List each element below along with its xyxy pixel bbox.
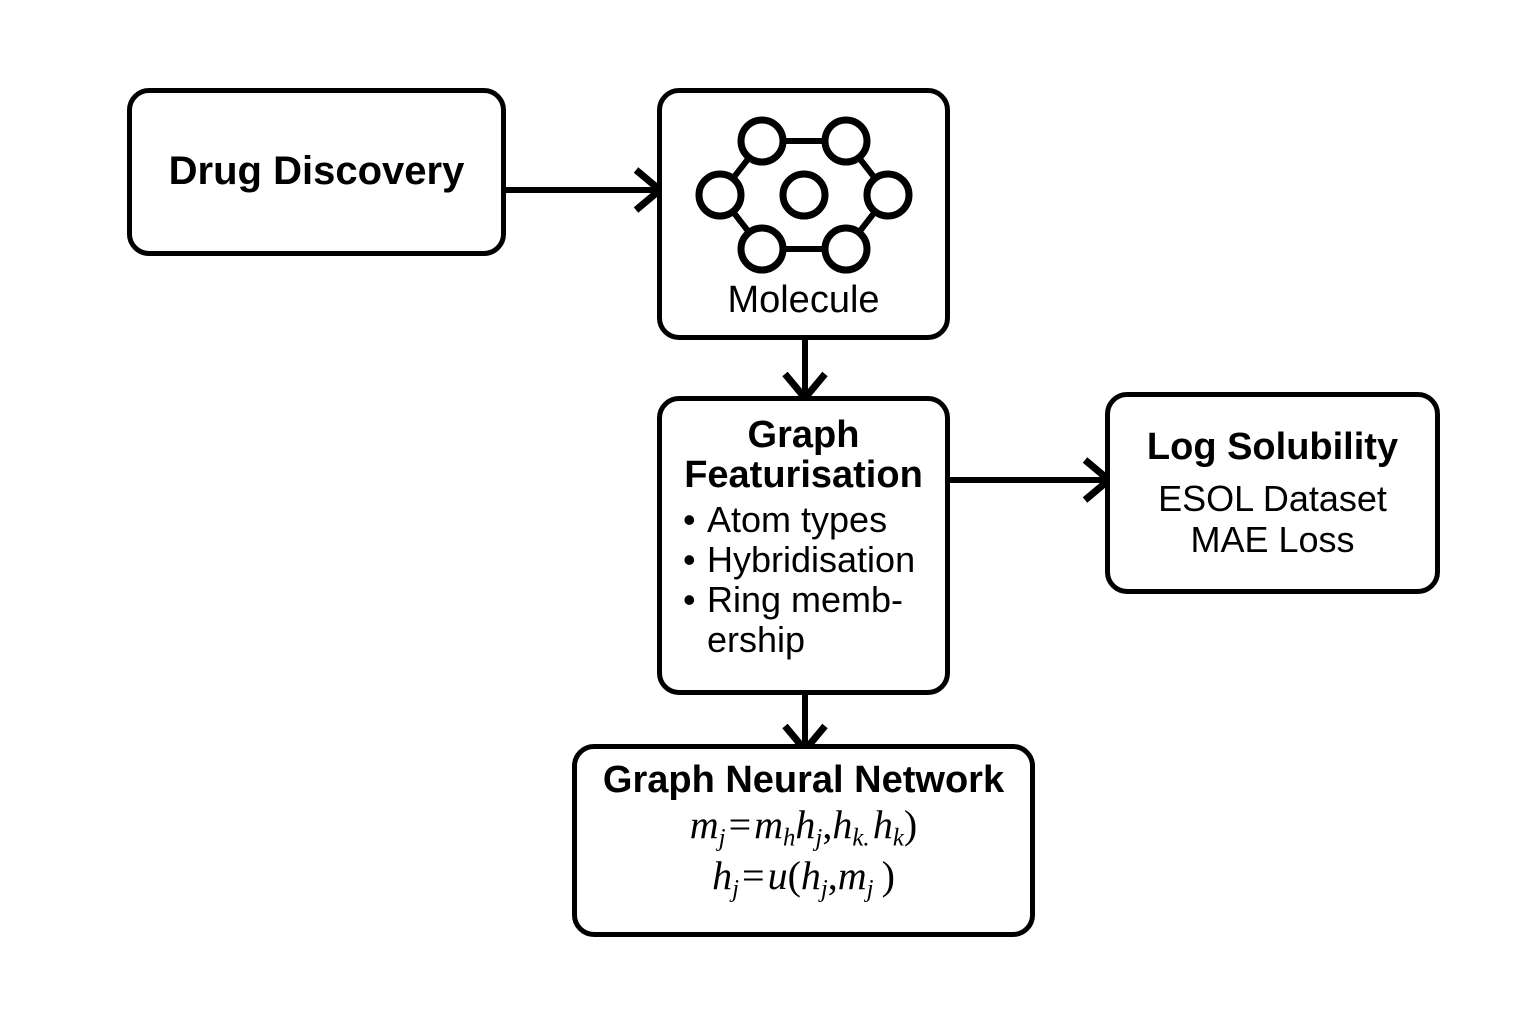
node-drug-discovery[interactable]: Drug Discovery [127,88,506,256]
graph-featurisation-title-line1: Graph [748,415,860,455]
edge-featurisation-to-solubility [944,440,1119,520]
list-item: • Atom types [673,500,940,540]
node-molecule[interactable]: Molecule [657,88,950,340]
node-graph-neural-network[interactable]: Graph Neural Network mj=mhhj,hk. hk) hj=… [572,744,1035,937]
log-solubility-title: Log Solubility [1147,426,1398,469]
list-item-label: Ring memb- [707,579,903,620]
list-item-label: Hybridisation [707,539,915,580]
log-solubility-loss: MAE Loss [1190,520,1354,560]
diagram-canvas: Drug Discovery Molecule Graph Featurisat… [0,0,1536,1024]
list-item: • Hybridisation [673,540,940,580]
list-item: • Ring memb- [673,580,940,620]
graph-featurisation-feature-list: • Atom types • Hybridisation • Ring memb… [667,500,940,661]
molecule-label: Molecule [727,279,879,322]
gnn-formula-2: hj=u(hj,mj ) [712,853,895,904]
molecule-hexagon-icon [696,115,912,275]
drug-discovery-label: Drug Discovery [169,150,465,193]
gnn-formula-1: mj=mhhj,hk. hk) [690,802,917,853]
gnn-title: Graph Neural Network [603,759,1004,802]
list-item-continuation: ership [673,620,940,660]
list-item-label: Atom types [707,499,887,540]
graph-featurisation-title-line2: Featurisation [684,455,923,495]
list-item-label: ership [707,619,805,660]
node-graph-featurisation[interactable]: Graph Featurisation • Atom types • Hybri… [657,396,950,695]
bullet-glyph: • [683,500,696,540]
bullet-glyph: • [683,580,696,620]
log-solubility-dataset: ESOL Dataset [1158,479,1387,519]
edge-drug-to-molecule [500,150,670,230]
bullet-glyph: • [683,540,696,580]
node-log-solubility[interactable]: Log Solubility ESOL Dataset MAE Loss [1105,392,1440,594]
